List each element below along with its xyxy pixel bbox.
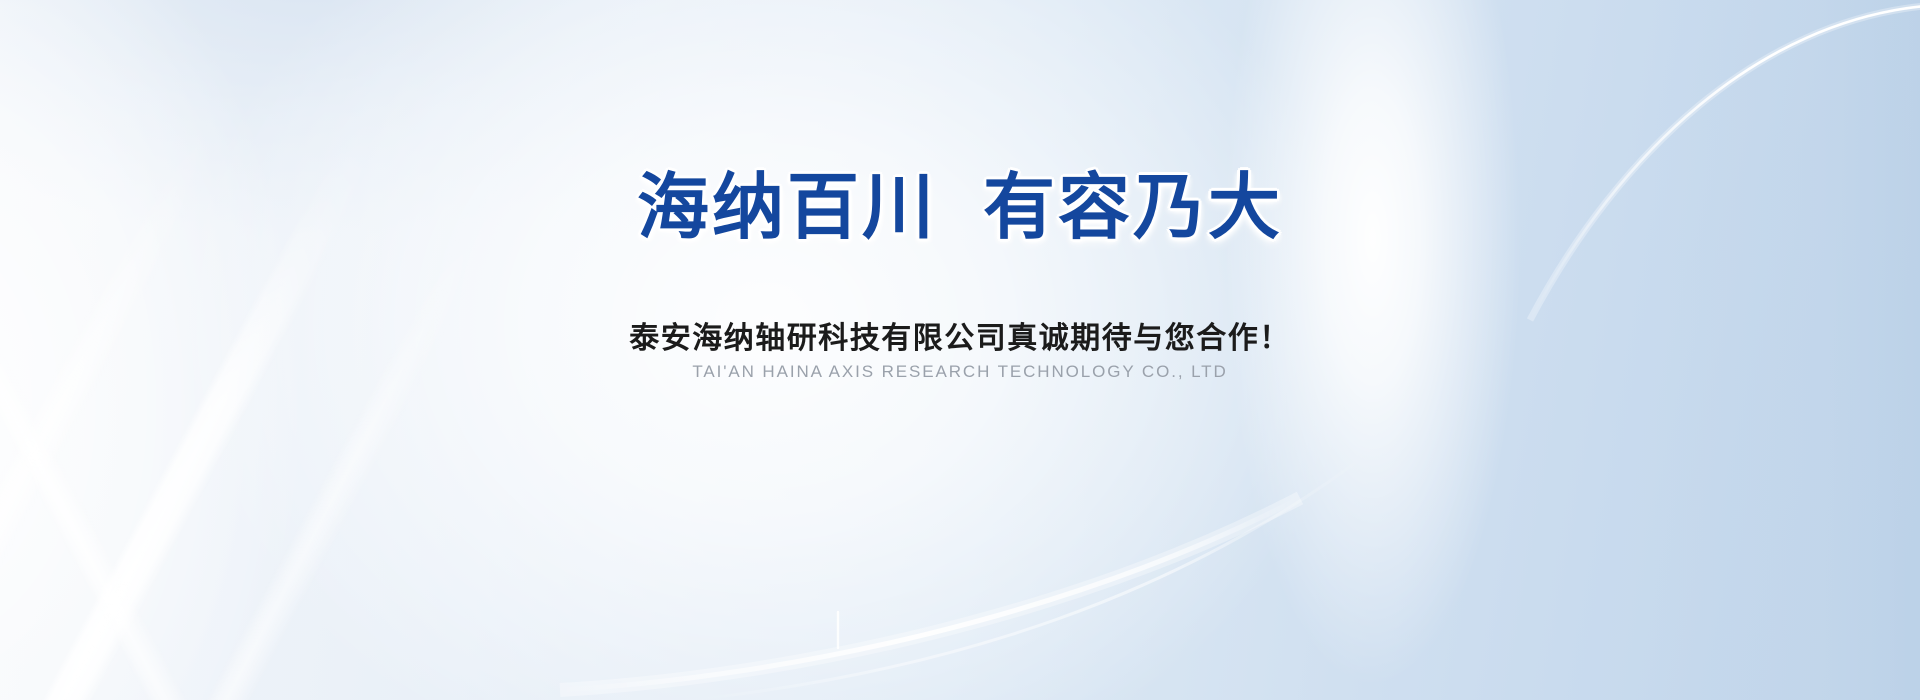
company-tagline-cn: 泰安海纳轴研科技有限公司真诚期待与您合作！ [0,313,1920,357]
page-title: 海纳百川 有容乃大 [0,168,1920,249]
company-name-en: TAI'AN HAINA AXIS RESEARCH TECHNOLOGY CO… [0,362,1920,382]
hero-banner: 海纳百川 有容乃大 泰安海纳轴研科技有限公司真诚期待与您合作！ TAI'AN H… [0,0,1920,700]
banner-content: 海纳百川 有容乃大 泰安海纳轴研科技有限公司真诚期待与您合作！ TAI'AN H… [0,0,1920,700]
